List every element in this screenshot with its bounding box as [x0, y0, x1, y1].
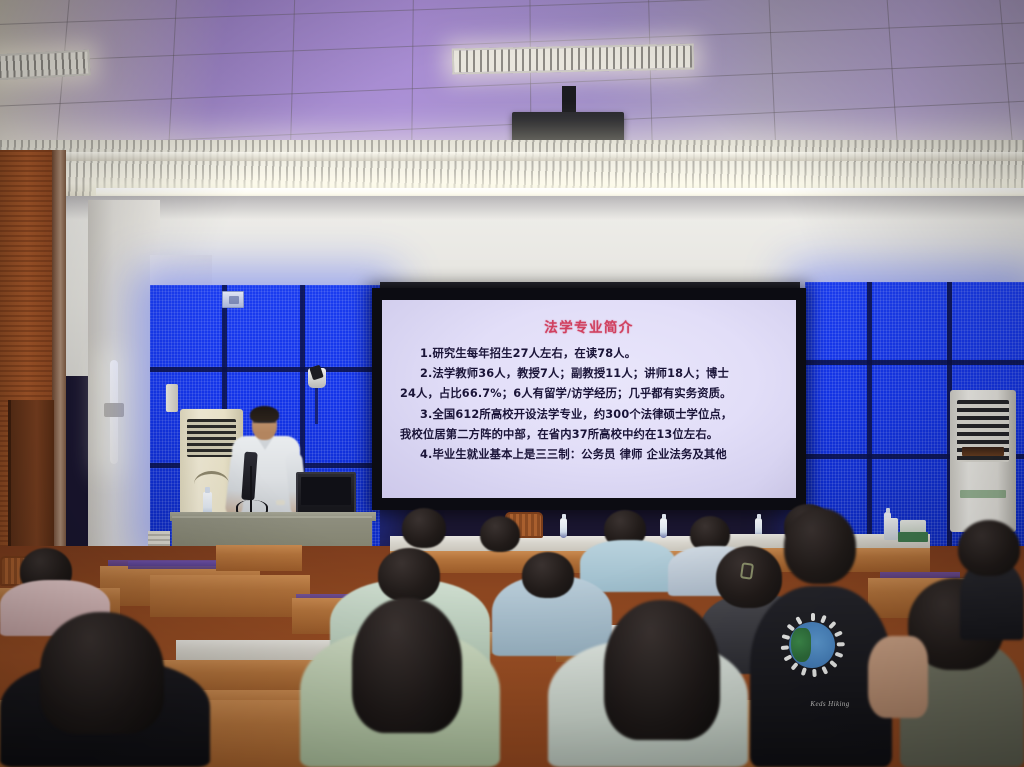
wristwatch-icon	[276, 500, 285, 505]
slide-line: 1.研究生每年招生27人左右，在读78人。	[400, 344, 782, 363]
wall-sign	[222, 291, 244, 308]
audience-head	[40, 612, 164, 734]
slide-line: 我校位居第二方阵的中部，在省内37所高校中约在13位左右。	[400, 425, 782, 444]
light-band-edge	[0, 152, 1024, 161]
tshirt-globe-icon	[789, 622, 835, 668]
monitor-screen	[301, 477, 351, 505]
lecture-desk	[150, 575, 310, 617]
water-bottle	[660, 518, 667, 538]
slide-body: 1.研究生每年招生27人左右，在读78人。 2.法学教师36人，教授7人；副教授…	[400, 344, 782, 465]
audience-head	[604, 600, 720, 740]
audience-head	[958, 520, 1020, 576]
wall-shadow	[60, 196, 1024, 220]
ac-display-badge	[962, 447, 1004, 456]
audience-head	[402, 508, 446, 548]
air-conditioner-right	[950, 390, 1016, 532]
audience-head	[352, 598, 462, 733]
audience-head	[522, 552, 574, 598]
slide-line: 2.法学教师36人，教授7人；副教授11人；讲师18人；博士	[400, 364, 782, 383]
ac-vent-grille	[187, 419, 236, 457]
ac-detail	[194, 471, 229, 484]
supply-bag	[884, 518, 898, 540]
audience-head	[784, 508, 856, 584]
ac-control-panel[interactable]	[960, 490, 1006, 498]
lecture-desk	[216, 545, 302, 571]
glasses-icon	[253, 421, 276, 426]
lecture-hall-photo: 法学专业简介 1.研究生每年招生27人左右，在读78人。 2.法学教师36人，教…	[0, 0, 1024, 767]
podium-monitor	[296, 472, 356, 516]
ceiling-light-fixture	[452, 43, 694, 74]
ceiling-light-fixture	[0, 49, 91, 80]
audience-arm	[868, 636, 928, 718]
slide-line: 24人，占比66.7%；6人有留学/访学经历；几乎都有实务资质。	[400, 384, 782, 403]
water-bottle	[560, 518, 567, 538]
audience-head	[480, 516, 520, 552]
wall-sconce-bracket	[104, 403, 124, 417]
tshirt-caption: Keds Hiking	[795, 700, 865, 708]
slide-title: 法学专业简介	[382, 316, 796, 336]
slide-line: 4.毕业生就业基本上是三三制：公务员 律师 企业法务及其他	[400, 445, 782, 464]
supply-box-label	[898, 532, 928, 542]
hair-clip	[740, 562, 754, 580]
presentation-slide: 法学专业简介 1.研究生每年招生27人左右，在读78人。 2.法学教师36人，教…	[382, 300, 796, 498]
wall-control-box[interactable]	[166, 384, 178, 412]
slide-line: 3.全国612所高校开设法学专业，约300个法律硕士学位点，	[400, 405, 782, 424]
audience-head	[378, 548, 440, 602]
camera-mount	[315, 386, 318, 424]
